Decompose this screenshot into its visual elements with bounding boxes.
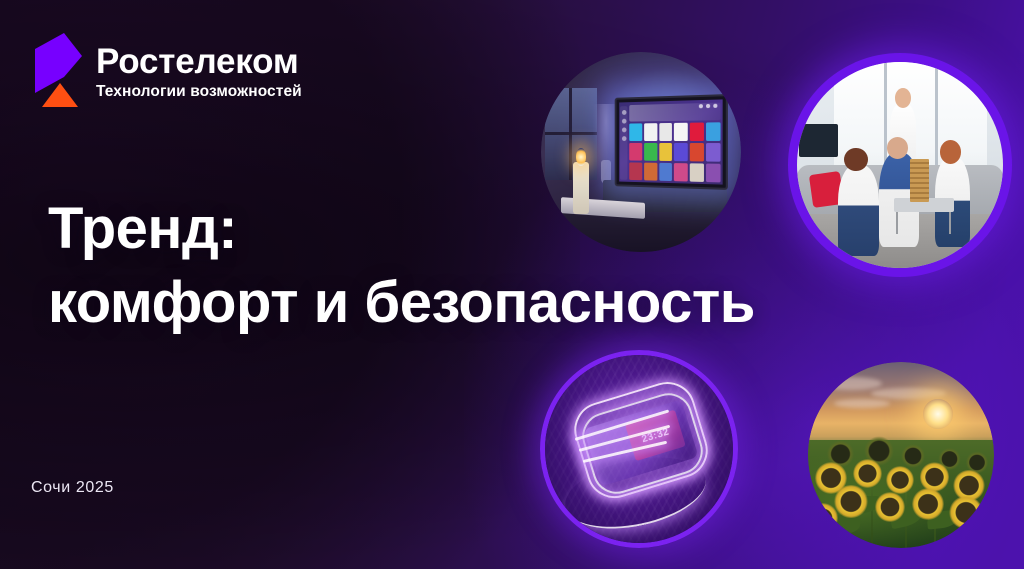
sky-cloud xyxy=(871,388,945,399)
presentation-slide: Ростелеком Технологии возможностей Тренд… xyxy=(0,0,1024,576)
logo-brand-name: Ростелеком xyxy=(96,44,302,80)
sunflower-head xyxy=(949,496,982,529)
tv-screen-tile-row xyxy=(629,162,720,182)
logo-tagline: Технологии возможностей xyxy=(96,84,302,100)
tv-screen-sidebar xyxy=(620,106,627,180)
event-location-year: Сочи 2025 xyxy=(31,479,114,497)
tv-television xyxy=(615,94,728,190)
slide-title-line-2: комфорт и безопасность xyxy=(48,266,808,340)
rostelecom-logo-text: Ростелеком Технологии возможностей xyxy=(96,33,302,100)
tv-screen-ui xyxy=(619,99,722,184)
setting-sun xyxy=(923,399,953,429)
sunflower-head xyxy=(808,503,838,533)
sunflower-head xyxy=(886,466,914,494)
photo-family-playing-jenga xyxy=(797,62,1003,268)
family-room-television xyxy=(799,124,838,157)
tv-room-window xyxy=(545,88,597,180)
sunflower-head xyxy=(875,492,905,522)
photo-circle-sunflowers xyxy=(808,362,994,548)
sky-cloud xyxy=(819,377,882,390)
tv-room-candle xyxy=(573,162,589,214)
family-mother xyxy=(838,165,879,256)
sunflower-head xyxy=(834,485,867,518)
photo-sunflower-field-sunset xyxy=(808,362,994,548)
photo-neon-smartphone: 23:32 xyxy=(545,355,733,543)
tv-screen-tile-row xyxy=(629,122,720,141)
photo-smart-tv-living-room xyxy=(541,52,741,252)
sunflower-head xyxy=(912,488,944,520)
tv-screen-tile-row xyxy=(629,143,720,162)
rostelecom-logo: Ростелеком Технологии возможностей xyxy=(31,33,302,107)
sunflower-head xyxy=(901,444,925,468)
photo-circle-neon-phone: 23:32 xyxy=(540,350,738,548)
rostelecom-logo-mark-icon xyxy=(31,33,83,107)
photo-circle-family xyxy=(788,53,1012,277)
tv-screen-status-icons xyxy=(699,104,718,109)
family-block-tower xyxy=(910,159,929,202)
bottom-white-strip xyxy=(0,569,1024,576)
photo-circle-smart-tv xyxy=(541,52,741,252)
